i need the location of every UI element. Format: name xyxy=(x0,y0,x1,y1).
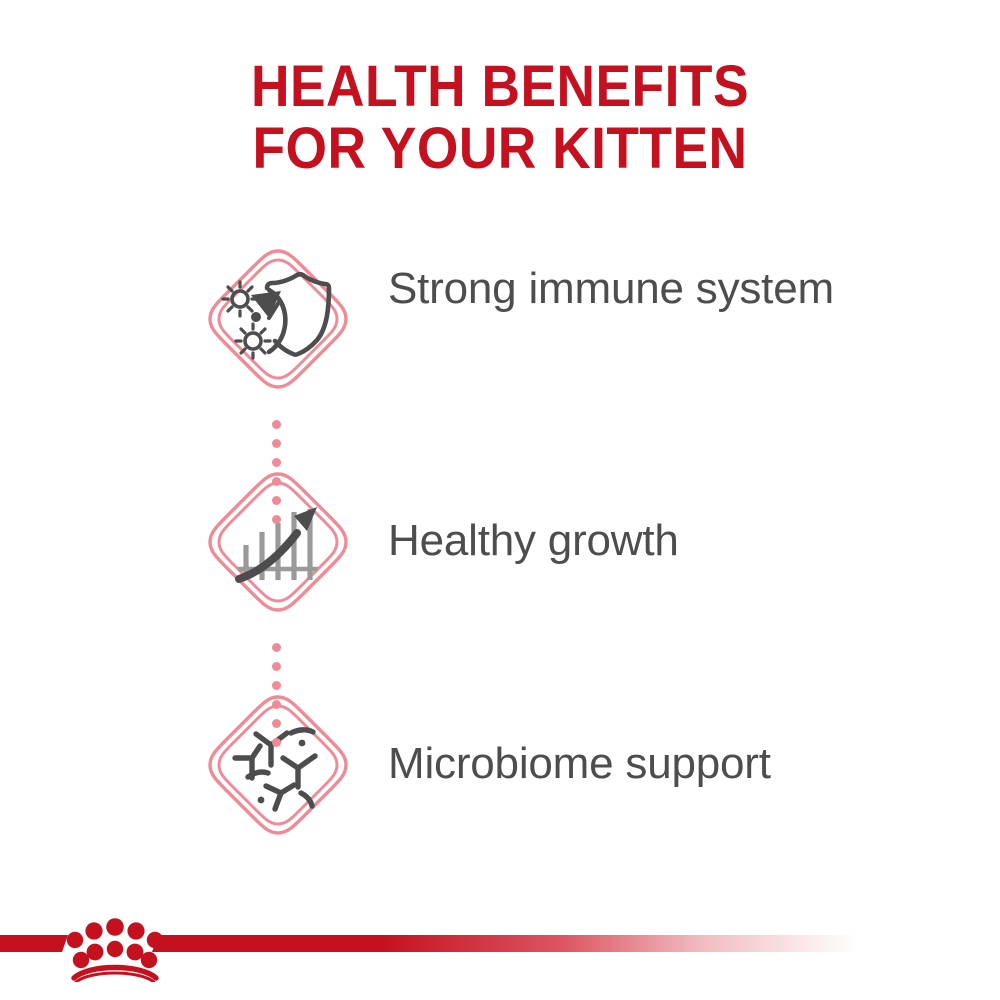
shield-virus-icon xyxy=(205,246,351,392)
connector-dot xyxy=(272,738,281,747)
connector-dots-1 xyxy=(272,420,281,534)
page-title: HEALTH BENEFITS FOR YOUR KITTEN xyxy=(40,56,960,180)
benefit-item-growth: Healthy growth xyxy=(0,469,1000,645)
connector-dot xyxy=(272,719,281,728)
brand-bar-left-segment xyxy=(0,935,62,952)
brand-bar-right-segment xyxy=(158,935,858,952)
benefit-item-immune: Strong immune system xyxy=(0,246,1000,422)
connector-dot xyxy=(272,420,281,429)
connector-dots-2 xyxy=(272,643,281,757)
page-title-line-2: FOR YOUR KITTEN xyxy=(40,118,960,180)
royal-canin-crown-logo xyxy=(59,912,171,982)
health-benefits-infographic: HEALTH BENEFITS FOR YOUR KITTEN xyxy=(0,0,1000,1000)
footer-brand-bar xyxy=(0,900,1000,1000)
connector-dot xyxy=(272,662,281,671)
connector-dot xyxy=(272,700,281,709)
connector-dot xyxy=(272,643,281,652)
connector-dot xyxy=(272,515,281,524)
benefits-list: Strong immune system xyxy=(0,246,1000,868)
benefit-label-immune: Strong immune system xyxy=(388,260,988,318)
connector-dot xyxy=(272,496,281,505)
connector-dot xyxy=(272,477,281,486)
benefit-item-microbiome: Microbiome support xyxy=(0,692,1000,868)
benefit-label-growth: Healthy growth xyxy=(388,512,988,570)
connector-dot xyxy=(272,439,281,448)
benefit-label-microbiome: Microbiome support xyxy=(388,735,988,793)
page-title-line-1: HEALTH BENEFITS xyxy=(40,56,960,118)
connector-dot xyxy=(272,458,281,467)
connector-dot xyxy=(272,681,281,690)
